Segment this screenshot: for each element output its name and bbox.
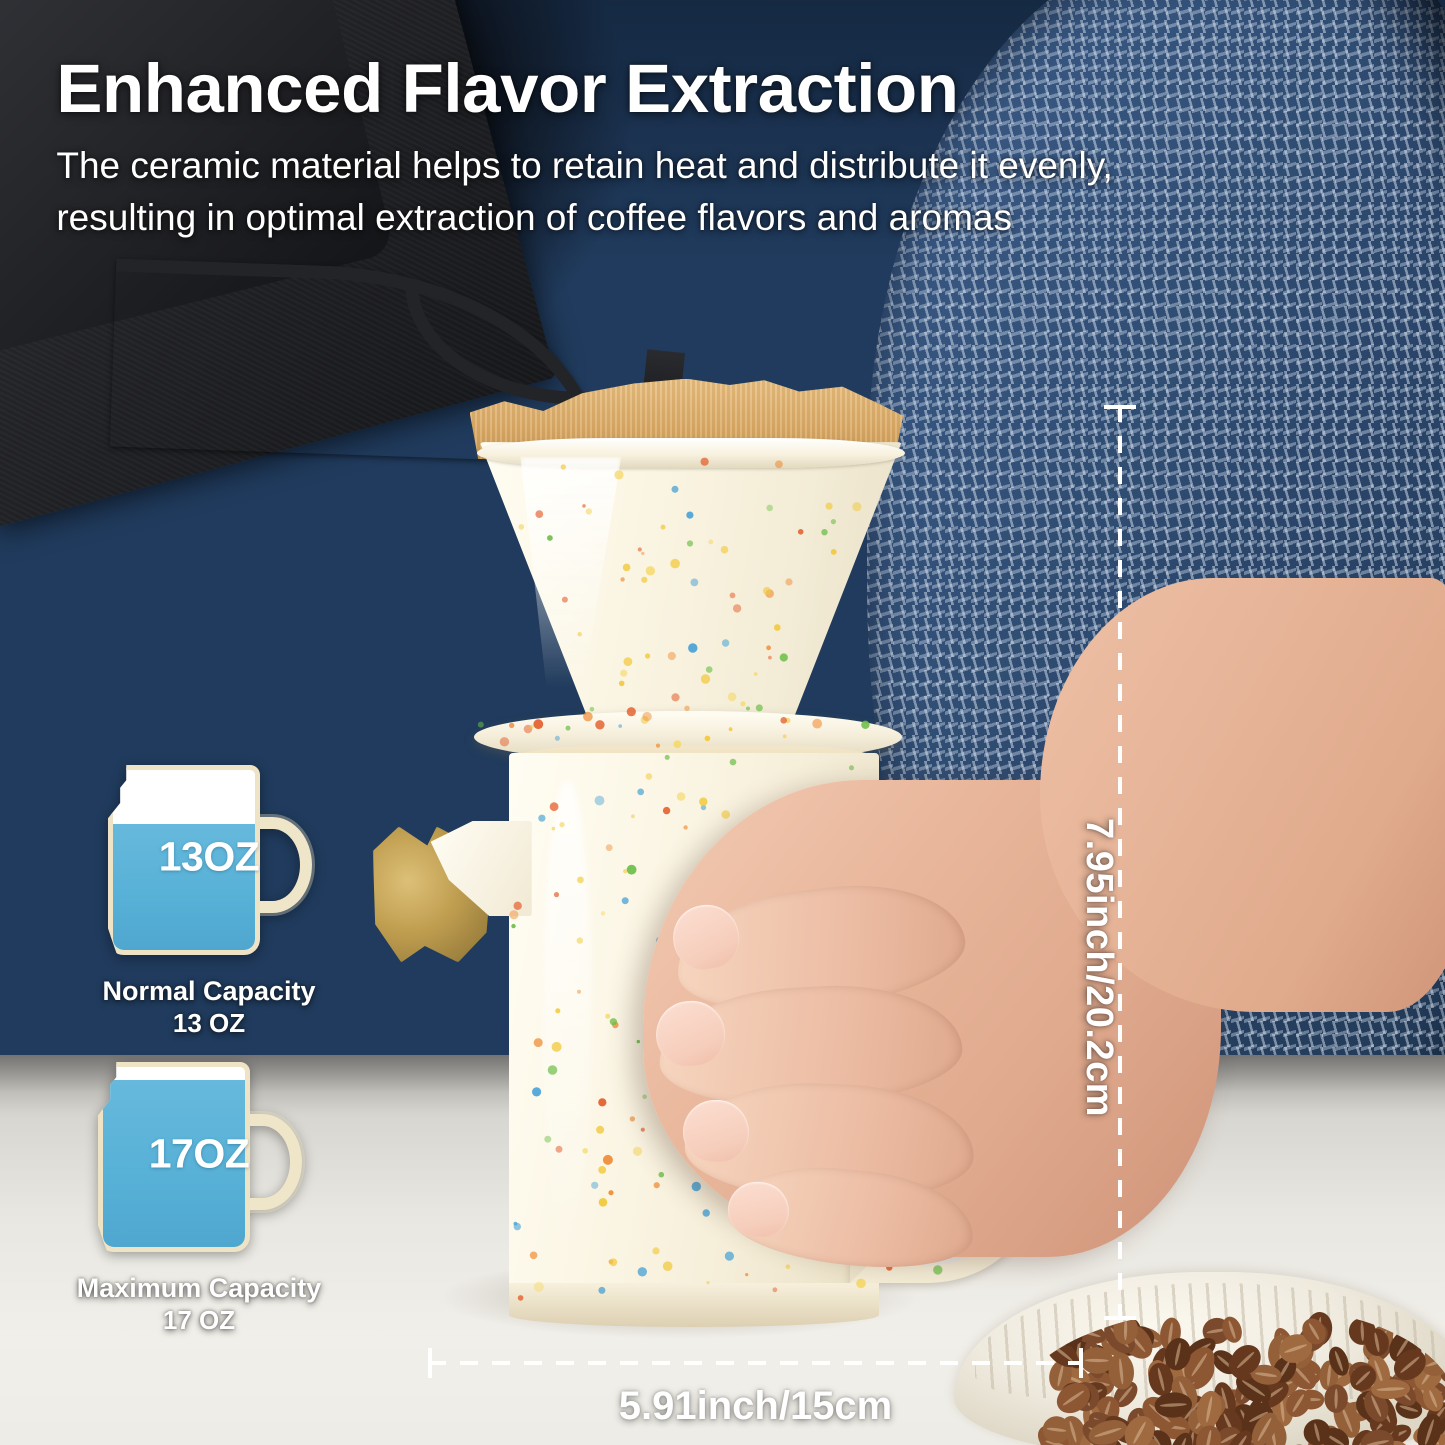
capacity-caption: Maximum Capacity 17 OZ [69, 1272, 329, 1337]
dimension-cap-left [428, 1348, 432, 1378]
capacity-badge-maximum: 17OZ Maximum Capacity 17 OZ [69, 1062, 329, 1337]
dimension-cap-top [1104, 405, 1136, 409]
capacity-caption-title: Normal Capacity [102, 976, 315, 1006]
height-dimension-label: 7.95inch/20.2cm [1077, 818, 1120, 1117]
capacity-caption: Normal Capacity 13 OZ [79, 975, 339, 1040]
capacity-value-label: 13OZ [108, 834, 310, 881]
page-title: Enhanced Flavor Extraction [56, 49, 958, 128]
dimension-cap-bottom [1104, 1316, 1136, 1320]
mug-base [509, 1283, 879, 1326]
subtitle-line-2: resulting in optimal extraction of coffe… [56, 197, 1012, 239]
pitcher-icon: 13OZ [108, 765, 310, 965]
subtitle-line-1: The ceramic material helps to retain hea… [56, 145, 1112, 187]
product-feature-image: Enhanced Flavor Extraction The ceramic m… [0, 0, 1445, 1445]
pitcher-icon: 17OZ [98, 1062, 300, 1262]
capacity-caption-value: 17 OZ [69, 1305, 329, 1337]
width-dimension-line [428, 1361, 1083, 1365]
capacity-value-label: 17OZ [98, 1131, 300, 1178]
capacity-badge-normal: 13OZ Normal Capacity 13 OZ [79, 765, 339, 1040]
capacity-caption-value: 13 OZ [79, 1008, 339, 1040]
capacity-caption-title: Maximum Capacity [77, 1273, 322, 1303]
dimension-cap-right [1079, 1348, 1083, 1378]
width-dimension-label: 5.91inch/15cm [428, 1384, 1083, 1429]
